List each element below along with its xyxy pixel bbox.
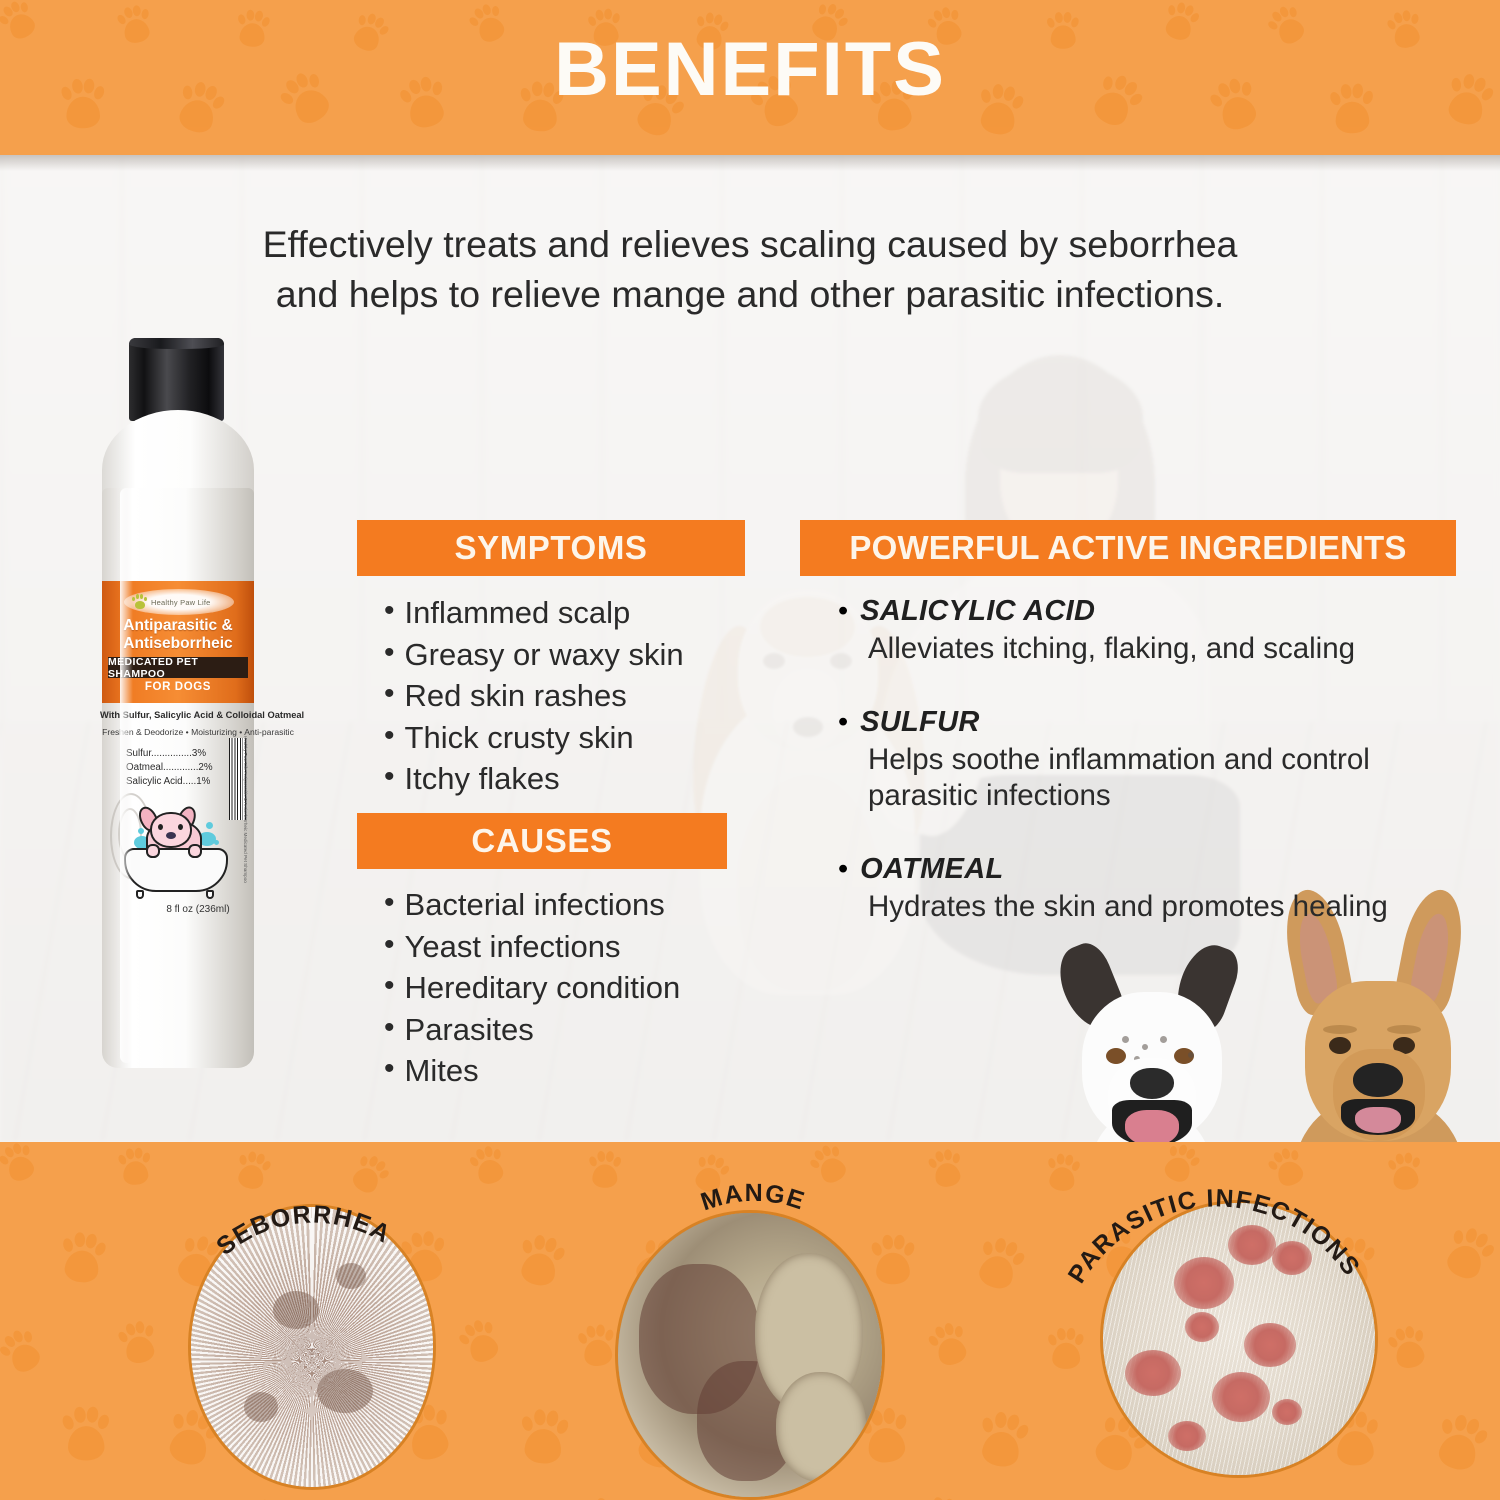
- paw-print-icon: [1262, 148, 1319, 155]
- ingredients-banner: POWERFUL ACTIVE INGREDIENTS: [800, 520, 1456, 576]
- bullet-icon: •: [384, 678, 395, 710]
- ingredient-description: Alleviates itching, flaking, and scaling: [868, 631, 1478, 666]
- bullet-icon: •: [384, 761, 395, 793]
- paw-print-icon: [0, 1392, 3, 1466]
- paw-print-icon: [1383, 1320, 1433, 1374]
- label-actives: Sulfur...............3% Oatmeal.........…: [126, 747, 230, 790]
- brand-name: Healthy Paw Life: [151, 598, 210, 607]
- intro-line-2: and helps to relieve mange and other par…: [120, 270, 1380, 320]
- paw-print-icon: [59, 1402, 112, 1462]
- condition-seborrhea: SEBORRHEA: [143, 1162, 473, 1500]
- ingredient-item: •OATMEALHydrates the skin and promotes h…: [838, 853, 1478, 924]
- intro-text: Effectively treats and relieves scaling …: [0, 220, 1500, 319]
- paw-print-icon: [968, 1229, 1031, 1296]
- mange-photo: [615, 1210, 885, 1500]
- bullet-icon: •: [838, 595, 848, 626]
- paw-print-icon: [112, 148, 166, 155]
- list-item-label: Red skin rashes: [405, 678, 627, 715]
- header-band: BENEFITS: [0, 0, 1500, 155]
- list-item: •Itchy flakes: [384, 761, 764, 798]
- active-oatmeal: Oatmeal.............2%: [126, 761, 230, 775]
- paw-print-icon: [971, 1404, 1034, 1472]
- ingredient-description: Hydrates the skin and promotes healing: [868, 889, 1478, 924]
- bullet-icon: •: [384, 637, 395, 669]
- paw-print-icon: [0, 1142, 43, 1188]
- ingredients-list: •SALICYLIC ACIDAlleviates itching, flaki…: [838, 595, 1478, 965]
- footer-band: SEBORRHEA MANGE: [0, 1142, 1500, 1500]
- white-dog: [1030, 940, 1270, 1142]
- ingredient-item: •SALICYLIC ACIDAlleviates itching, flaki…: [838, 595, 1478, 666]
- paw-print-icon: [516, 1404, 573, 1468]
- bullet-icon: •: [384, 887, 395, 919]
- causes-list: •Bacterial infections•Yeast infections•H…: [384, 887, 764, 1095]
- bullet-icon: •: [838, 853, 848, 884]
- dog-in-bathtub-illustration: [120, 808, 232, 898]
- symptoms-title: SYMPTOMS: [454, 529, 647, 567]
- paw-print-icon: [55, 1226, 110, 1286]
- seborrhea-photo: [188, 1204, 436, 1490]
- active-salicylic-acid: Salicylic Acid.....1%: [126, 775, 230, 789]
- bullet-icon: •: [384, 1053, 395, 1085]
- bullet-icon: •: [384, 970, 395, 1002]
- list-item-label: Hereditary condition: [405, 970, 681, 1007]
- header-drop-shadow: [0, 155, 1500, 171]
- paw-print-icon: [1385, 1149, 1425, 1193]
- intro-line-1: Effectively treats and relieves scaling …: [120, 220, 1380, 270]
- symptoms-list: •Inflammed scalp•Greasy or waxy skin•Red…: [384, 595, 764, 803]
- bottle-highlight: [120, 488, 133, 1063]
- list-item-label: Yeast infections: [405, 929, 621, 966]
- ingredient-name: OATMEAL: [860, 853, 1003, 886]
- causes-banner: CAUSES: [357, 813, 727, 869]
- list-item: •Hereditary condition: [384, 970, 764, 1007]
- bullet-icon: •: [384, 720, 395, 752]
- list-item-label: Greasy or waxy skin: [405, 637, 684, 674]
- parasitic-infections-photo: [1100, 1200, 1378, 1478]
- list-item-label: Mites: [405, 1053, 479, 1090]
- list-item-label: Inflammed scalp: [405, 595, 631, 632]
- paw-print-icon: [910, 1488, 972, 1500]
- list-item-label: Thick crusty skin: [405, 720, 634, 757]
- main-stage: Effectively treats and relieves scaling …: [0, 155, 1500, 1142]
- label-side-text: Healthy Paw Life Antiparasitic & Antiseb…: [243, 736, 248, 816]
- brand-logo: Healthy Paw Life: [124, 589, 234, 615]
- paw-print-icon: [1436, 1218, 1500, 1288]
- ingredient-heading: •OATMEAL: [838, 853, 1478, 886]
- list-item: •Red skin rashes: [384, 678, 764, 715]
- ingredient-item: •SULFURHelps soothe inflammation and con…: [838, 706, 1478, 813]
- paw-print-icon: [450, 145, 508, 155]
- page-title: BENEFITS: [0, 32, 1500, 108]
- paw-print-icon: [0, 1321, 50, 1381]
- paw-print-icon: [924, 1144, 968, 1191]
- ingredient-heading: •SALICYLIC ACID: [838, 595, 1478, 628]
- list-item: •Bacterial infections: [384, 887, 764, 924]
- ingredient-name: SALICYLIC ACID: [860, 595, 1095, 628]
- list-item-label: Parasites: [405, 1012, 534, 1049]
- symptoms-banner: SYMPTOMS: [357, 520, 745, 576]
- active-sulfur: Sulfur...............3%: [126, 747, 230, 761]
- ingredient-name: SULFUR: [860, 706, 979, 739]
- list-item: •Greasy or waxy skin: [384, 637, 764, 674]
- paw-print-icon: [0, 1494, 56, 1500]
- causes-title: CAUSES: [471, 822, 612, 860]
- paw-logo-icon: [132, 594, 147, 610]
- bottle-cap: [129, 338, 224, 421]
- ingredients-title: POWERFUL ACTIVE INGREDIENTS: [849, 529, 1406, 567]
- product-bottle: Healthy Paw Life Antiparasitic & Antiseb…: [98, 338, 298, 1083]
- condition-parasitic-infections: PARASITIC INFECTIONS: [1040, 1152, 1390, 1500]
- condition-mange: MANGE: [590, 1162, 910, 1500]
- ingredient-description: Helps soothe inflammation and control pa…: [868, 742, 1478, 813]
- bullet-icon: •: [384, 1012, 395, 1044]
- list-item: •Thick crusty skin: [384, 720, 764, 757]
- list-item: •Inflammed scalp: [384, 595, 764, 632]
- list-item-label: Bacterial infections: [405, 887, 665, 924]
- bullet-icon: •: [838, 706, 848, 737]
- paw-print-icon: [1428, 1405, 1495, 1477]
- bullet-icon: •: [384, 929, 395, 961]
- paw-print-icon: [512, 1227, 571, 1291]
- ingredient-heading: •SULFUR: [838, 706, 1478, 739]
- infographic-page: BENEFITS Effectively treats and relieves…: [0, 0, 1500, 1500]
- list-item: •Parasites: [384, 1012, 764, 1049]
- list-item: •Yeast infections: [384, 929, 764, 966]
- bullet-icon: •: [384, 595, 395, 627]
- list-item: •Mites: [384, 1053, 764, 1090]
- paw-print-icon: [923, 1316, 976, 1372]
- list-item-label: Itchy flakes: [405, 761, 560, 798]
